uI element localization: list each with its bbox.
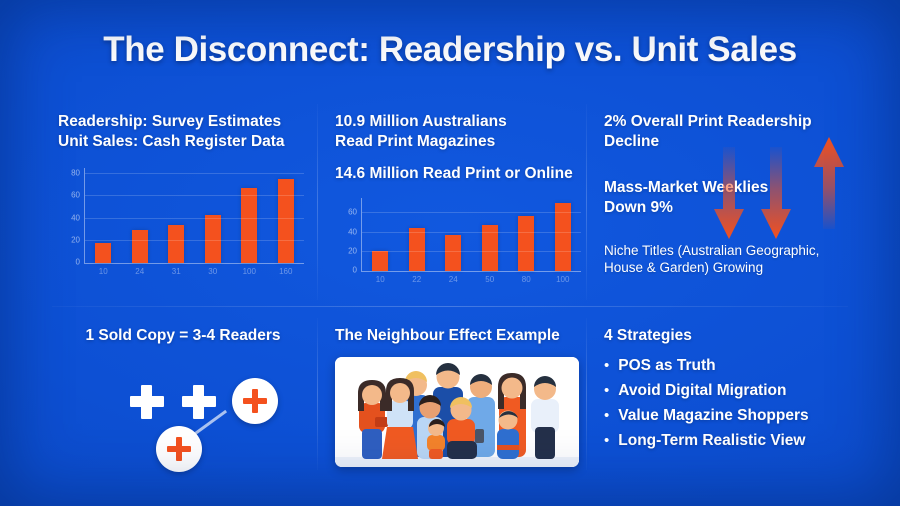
slide-title-container: The Disconnect: Readership vs. Unit Sale… — [0, 30, 900, 70]
slide-canvas: The Disconnect: Readership vs. Unit Sale… — [0, 0, 900, 506]
australians-reading-line1: 10.9 Million Australians — [335, 112, 585, 132]
bar-chart-readership-plot: 10243130100160 020406080 — [84, 168, 304, 264]
chart-x-tick-label: 31 — [172, 267, 181, 276]
chart-x-tick-label: 100 — [243, 267, 256, 276]
chart-gridline: 0 — [362, 270, 581, 271]
chart-gridline: 40 — [85, 218, 304, 219]
chart-bar-column: 50 — [472, 198, 509, 271]
bullet-point-icon: • — [604, 358, 609, 373]
australians-reading-line2: Read Print Magazines — [335, 132, 585, 152]
chart-gridline: 60 — [362, 212, 581, 213]
chart-bar — [555, 203, 571, 271]
chart-bar-column: 10 — [362, 198, 399, 271]
horizontal-divider — [52, 306, 848, 307]
neighbour-effect-heading: The Neighbour Effect Example — [335, 326, 585, 346]
readership-sources-line2: Unit Sales: Cash Register Data — [58, 132, 308, 152]
panel-strategies: 4 Strategies •POS as Truth•Avoid Digital… — [604, 326, 874, 457]
bullet-point-icon: • — [604, 433, 609, 448]
strategy-list-item: •Long-Term Realistic View — [604, 432, 874, 450]
chart-bar-column: 100 — [231, 168, 268, 263]
chart-bar — [372, 251, 388, 271]
chart-bar-column: 31 — [158, 168, 195, 263]
trend-arrows-group — [714, 145, 854, 237]
reader-node-icon — [156, 426, 202, 472]
chart-x-tick-label: 24 — [449, 275, 458, 284]
bar-chart-readership-bars: 10243130100160 — [85, 168, 304, 263]
chart-gridline: 60 — [85, 195, 304, 196]
strategy-label: Long-Term Realistic View — [618, 432, 805, 450]
vertical-divider-top-right — [586, 104, 587, 300]
bar-chart-print-online-plot: 1022245080100 0204060 — [361, 198, 581, 272]
strategies-list: •POS as Truth•Avoid Digital Migration•Va… — [604, 357, 874, 450]
chart-x-tick-label: 30 — [208, 267, 217, 276]
chart-bar — [409, 228, 425, 272]
chart-bar-column: 160 — [268, 168, 305, 263]
chart-y-tick-label: 80 — [71, 168, 80, 177]
chart-bar-column: 24 — [435, 198, 472, 271]
chart-y-tick-label: 40 — [71, 213, 80, 222]
bar-chart-print-online-bars: 1022245080100 — [362, 198, 581, 271]
vertical-divider-bottom-right — [586, 318, 587, 470]
chart-x-tick-label: 80 — [522, 275, 531, 284]
strategy-list-item: •Avoid Digital Migration — [604, 382, 874, 400]
chart-bar-column: 10 — [85, 168, 122, 263]
chart-x-tick-label: 10 — [99, 267, 108, 276]
readers-multiplier-diagram — [130, 366, 320, 458]
bullet-point-icon: • — [604, 383, 609, 398]
sold-copy-heading: 1 Sold Copy = 3-4 Readers — [58, 326, 308, 346]
chart-gridline: 0 — [85, 262, 304, 263]
chart-bar — [168, 225, 184, 263]
bar-chart-print-online: 1022245080100 0204060 — [335, 196, 585, 290]
strategy-label: Value Magazine Shoppers — [618, 407, 808, 425]
chart-bar-column: 80 — [508, 198, 545, 271]
chart-y-tick-label: 40 — [348, 227, 357, 236]
chart-gridline: 20 — [85, 240, 304, 241]
chart-bar — [445, 235, 461, 271]
chart-y-tick-label: 0 — [353, 266, 357, 275]
page-title: The Disconnect: Readership vs. Unit Sale… — [0, 30, 900, 70]
panel-sold-copy: 1 Sold Copy = 3-4 Readers — [58, 326, 308, 466]
plus-icon — [182, 385, 216, 419]
arrow-up-icon — [814, 137, 844, 229]
chart-bar — [241, 188, 257, 263]
chart-bar-column: 30 — [195, 168, 232, 263]
strategy-label: Avoid Digital Migration — [618, 382, 786, 400]
reader-node-icon — [232, 378, 278, 424]
neighbour-effect-image — [335, 357, 579, 467]
arrow-down-icon — [761, 147, 791, 239]
strategy-list-item: •Value Magazine Shoppers — [604, 407, 874, 425]
bar-chart-readership: 10243130100160 020406080 — [58, 166, 308, 282]
niche-titles-note-line2: House & Garden) Growing — [604, 259, 869, 277]
chart-bar-column: 24 — [122, 168, 159, 263]
chart-gridline: 80 — [85, 173, 304, 174]
strategies-heading: 4 Strategies — [604, 326, 874, 346]
plus-icon — [130, 385, 164, 419]
strategy-list-item: •POS as Truth — [604, 357, 874, 375]
niche-titles-note-line1: Niche Titles (Australian Geographic, — [604, 242, 869, 260]
chart-x-tick-label: 50 — [485, 275, 494, 284]
chart-gridline: 40 — [362, 232, 581, 233]
chart-x-tick-label: 10 — [376, 275, 385, 284]
bullet-point-icon: • — [604, 408, 609, 423]
panel-australians-reading: 10.9 Million Australians Read Print Maga… — [335, 112, 585, 290]
chart-x-tick-label: 160 — [279, 267, 292, 276]
strategy-label: POS as Truth — [618, 357, 715, 375]
australians-reading-line3: 14.6 Million Read Print or Online — [335, 164, 585, 184]
group-of-people-illustration — [335, 357, 579, 467]
chart-bar-column: 100 — [545, 198, 582, 271]
chart-x-tick-label: 22 — [412, 275, 421, 284]
chart-y-tick-label: 0 — [76, 258, 80, 267]
chart-bar — [95, 243, 111, 263]
vertical-divider-top-left — [317, 104, 318, 300]
chart-y-tick-label: 60 — [71, 191, 80, 200]
chart-bar — [278, 179, 294, 263]
decline-line1: 2% Overall Print Readership — [604, 112, 869, 132]
arrow-down-icon — [714, 147, 744, 239]
chart-gridline: 20 — [362, 251, 581, 252]
chart-y-tick-label: 20 — [348, 246, 357, 255]
panel-readership-sources: Readership: Survey Estimates Unit Sales:… — [58, 112, 308, 282]
chart-y-tick-label: 60 — [348, 208, 357, 217]
panel-readership-decline: 2% Overall Print Readership Decline Mass… — [604, 112, 869, 302]
chart-x-tick-label: 24 — [135, 267, 144, 276]
chart-bar-column: 22 — [399, 198, 436, 271]
chart-x-tick-label: 100 — [556, 275, 569, 284]
panel-neighbour-effect: The Neighbour Effect Example — [335, 326, 585, 346]
readership-sources-line1: Readership: Survey Estimates — [58, 112, 308, 132]
chart-bar — [132, 230, 148, 264]
chart-bar — [518, 216, 534, 271]
chart-y-tick-label: 20 — [71, 235, 80, 244]
